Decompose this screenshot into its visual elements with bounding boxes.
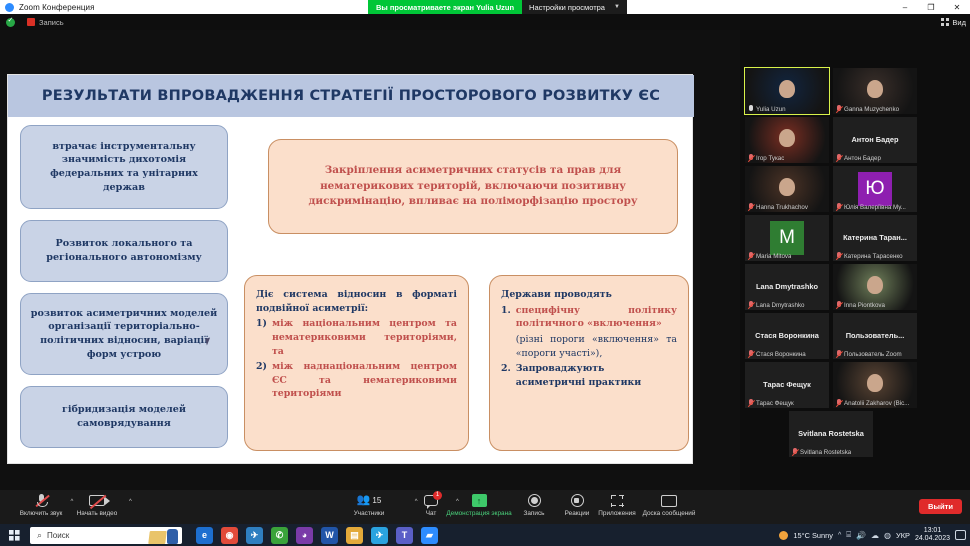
left-box-1: втрачає інструментальну значимість дихот… [20, 125, 228, 209]
participant-tile-name: Катерина Таран... [840, 234, 910, 243]
list-item: 1. специфічну політику політичного «вклю… [501, 304, 677, 331]
participant-name: Inna Piontkova [844, 302, 885, 309]
list-item-number: 2. [501, 362, 511, 389]
list-item-subtext: (різні пороги «включення» та «пороги уча… [516, 333, 677, 360]
microphone-muted-icon [836, 203, 842, 211]
top-highlight-text: Закріплення асиметричних статусів та пра… [289, 163, 657, 210]
microphone-muted-icon [836, 399, 842, 407]
weather-icon [779, 531, 788, 540]
participant-tile[interactable]: Inna Piontkova [833, 264, 917, 310]
list-item-text: між наднаціональним центром ЄС та немате… [272, 360, 457, 401]
left-boxes-column: втрачає інструментальну значимість дихот… [20, 125, 228, 448]
microphone-muted-icon [836, 252, 842, 260]
clock-time: 13:01 [924, 527, 942, 535]
microphone-muted-icon [836, 301, 842, 309]
taskbar-icon-telegram[interactable]: ✈ [371, 527, 388, 544]
participant-tile-name: Антон Бадер [848, 136, 901, 145]
participant-tile-footer: Hanna Trukhachov [745, 203, 829, 211]
system-tray: 15°C Sunny ^ ⌸ 🔊 ☁ ◍ УКР 13:01 24.04.202… [779, 524, 966, 546]
participant-tile-footer: Anatolii Zakharov (Віс... [833, 399, 917, 407]
windows-logo-icon [9, 530, 20, 541]
list-item-number: 1) [256, 317, 267, 358]
recording-bar: Запись Вид [0, 14, 970, 30]
cloud-icon[interactable]: ☁ [871, 531, 879, 540]
search-placeholder: Поиск [47, 531, 69, 540]
participant-tile[interactable]: ЮЮлія Валеріївна Му... [833, 166, 917, 212]
participant-tile-footer: Inna Piontkova [833, 301, 917, 309]
taskbar-icon-chrome[interactable]: ◉ [221, 527, 238, 544]
bottom-left-list: 1) між національним центром та нематерик… [256, 317, 457, 401]
notifications-icon[interactable] [955, 530, 966, 540]
network-icon[interactable]: ⌸ [846, 530, 851, 540]
view-options-label: Настройки просмотра [529, 3, 605, 12]
bottom-left-heading: Діє система відносин в форматі подвійної… [256, 288, 457, 315]
recording-label: Запись [39, 18, 64, 27]
participant-tile-footer: Тарас Фещук [745, 399, 829, 407]
microphone-muted-icon: ^ [35, 493, 48, 508]
unmute-label: Включить звук [20, 510, 63, 517]
grid-view-icon [941, 18, 949, 26]
zoom-logo-icon [5, 3, 14, 12]
participant-tile[interactable]: Svitlana RostetskaSvitlana Rostetska [789, 411, 873, 457]
taskbar-icon-word[interactable]: W [321, 527, 338, 544]
bottom-left-box: Діє система відносин в форматі подвійної… [244, 275, 469, 451]
recording-indicator-icon[interactable] [27, 18, 35, 26]
window-title: Zoom Конференция [19, 3, 95, 12]
camera-muted-icon: ^ [89, 493, 105, 508]
microphone-icon [748, 105, 754, 113]
participant-tile[interactable]: Yulia Uzun [745, 68, 829, 114]
participant-tile[interactable]: Пользователь...Пользователь Zoom [833, 313, 917, 359]
list-item-spacer [501, 333, 511, 360]
window-controls: – ❐ ✕ [892, 0, 970, 14]
zoom-title-bar: Zoom Конференция Вы просматриваете экран… [0, 0, 970, 14]
participant-tile-footer: Стася Воронкина [745, 350, 829, 358]
people-glyph-icon: 👥 [357, 495, 371, 506]
left-box-4: гібридизація моделей самоврядування [20, 386, 228, 448]
list-item-sub: (різні пороги «включення» та «пороги уча… [501, 333, 677, 360]
search-illustration [149, 529, 178, 544]
participant-tile[interactable]: Стася ВоронкинаСтася Воронкина [745, 313, 829, 359]
taskbar-icon-telegram-desktop[interactable]: ✈ [246, 527, 263, 544]
microphone-muted-icon [836, 105, 842, 113]
participant-name: Антон Бадер [844, 155, 881, 162]
participant-tile[interactable]: МMaria Mitova [745, 215, 829, 261]
list-item: 2) між наднаціональним центром ЄС та нем… [256, 360, 457, 401]
whiteboard-button[interactable]: Доска сообщений [630, 493, 708, 523]
list-item-number: 1. [501, 304, 511, 331]
weather-label[interactable]: 15°C Sunny [793, 531, 833, 540]
participant-tile[interactable]: Тарас ФещукТарас Фещук [745, 362, 829, 408]
participant-panel: Yulia UzunGanna MuzychenkoІгор ТукасАнто… [740, 30, 970, 490]
participant-tile-footer: Пользователь Zoom [833, 350, 917, 358]
start-button[interactable] [0, 530, 28, 541]
close-button[interactable]: ✕ [944, 0, 970, 14]
taskbar-icon-teams[interactable]: T [396, 527, 413, 544]
clock[interactable]: 13:01 24.04.2023 [915, 527, 950, 542]
participant-name: Yulia Uzun [756, 106, 786, 113]
microphone-muted-icon [748, 350, 754, 358]
participant-name: Svitlana Rostetska [800, 449, 851, 456]
bottom-right-box: Держави проводять 1. специфічну політику… [489, 275, 689, 451]
view-layout-button[interactable]: Вид [941, 14, 966, 30]
participants-icon: 👥 15 ^ [357, 493, 382, 508]
participant-tiles: Yulia UzunGanna MuzychenkoІгор ТукасАнто… [745, 68, 967, 457]
shared-screen-stage: РЕЗУЛЬТАТИ ВПРОВАДЖЕННЯ СТРАТЕГІЇ ПРОСТО… [0, 30, 740, 490]
participant-tile-footer: Антон Бадер [833, 154, 917, 162]
left-box-2: Розвиток локального та регіонального авт… [20, 220, 228, 282]
taskbar-app-icons: e◉✈✆◕W▤✈T▰ [196, 527, 438, 544]
participant-tile[interactable]: Hanna Trukhachov [745, 166, 829, 212]
participant-name: Hanna Trukhachov [756, 204, 808, 211]
chevron-up-icon[interactable]: ^ [838, 532, 841, 539]
participant-tile-footer: Катерина Тарасенко [833, 252, 917, 260]
participant-tile[interactable]: Антон БадерАнтон Бадер [833, 117, 917, 163]
participant-name: Ganna Muzychenko [844, 106, 899, 113]
minimize-button[interactable]: – [892, 0, 918, 14]
zoom-toolbar: ^ Включить звук ^ Начать видео 👥 15 ^ Уч… [0, 490, 970, 524]
chevron-up-icon[interactable]: ^ [129, 499, 132, 505]
participants-label: Участники [354, 510, 385, 517]
participant-tile[interactable]: Ganna Muzychenko [833, 68, 917, 114]
participant-tile-name: Lana Dmytrashko [753, 283, 821, 292]
taskbar-icon-viber[interactable]: ◕ [296, 527, 313, 544]
participant-tile-footer: Ganna Muzychenko [833, 105, 917, 113]
avatar: М [770, 221, 804, 255]
microphone-muted-icon [836, 350, 842, 358]
microphone-muted-icon [748, 301, 754, 309]
participant-tile-footer: Юлія Валеріївна Му... [833, 203, 917, 211]
maximize-button[interactable]: ❐ [918, 0, 944, 14]
participant-name: Стася Воронкина [756, 351, 806, 358]
encryption-shield-icon[interactable] [6, 18, 15, 27]
search-icon: ⌕ [37, 530, 42, 541]
view-options-button[interactable]: Настройки просмотра ▼ [522, 0, 627, 14]
microphone-muted-icon [748, 399, 754, 407]
microphone-muted-icon [748, 203, 754, 211]
view-label: Вид [952, 18, 966, 27]
volume-icon[interactable]: 🔊 [856, 531, 866, 540]
share-screen-icon: ↑ [472, 493, 487, 508]
left-box-3: розвиток асиметричних моделей організаці… [20, 293, 228, 375]
chevron-down-icon: ▼ [614, 4, 620, 10]
slide-title: РЕЗУЛЬТАТИ ВПРОВАДЖЕННЯ СТРАТЕГІЇ ПРОСТО… [42, 88, 660, 104]
list-item-number: 2) [256, 360, 267, 401]
participant-tile-footer: Maria Mitova [745, 252, 829, 260]
participant-name: Катерина Тарасенко [844, 253, 903, 260]
participant-tile[interactable]: Ігор Тукас [745, 117, 829, 163]
participant-tile[interactable]: Катерина Таран...Катерина Тарасенко [833, 215, 917, 261]
taskbar-icon-file-explorer[interactable]: ▤ [346, 527, 363, 544]
leave-meeting-button[interactable]: Выйти [919, 499, 962, 514]
participant-tile-name: Стася Воронкина [752, 332, 822, 341]
sharing-indicator-group: Вы просматриваете экран Yulia Uzun Настр… [368, 0, 627, 14]
participant-tile-footer: Yulia Uzun [745, 105, 829, 113]
screen: Zoom Конференция Вы просматриваете экран… [0, 0, 970, 546]
apps-icon [611, 493, 624, 508]
search-input[interactable]: ⌕ Поиск [30, 527, 182, 544]
participant-tile[interactable]: Lana DmytrashkoLana Dmytrashko [745, 264, 829, 310]
clock-date: 24.04.2023 [915, 535, 950, 543]
microphone-muted-icon [748, 154, 754, 162]
participant-tile-name: Пользователь... [843, 332, 908, 341]
chat-label: Чат [426, 510, 437, 517]
microphone-muted-icon [792, 448, 798, 456]
start-video-label: Начать видео [77, 510, 118, 517]
bottom-right-heading: Держави проводять [501, 288, 677, 302]
participant-tile-footer: Svitlana Rostetska [789, 448, 873, 456]
slide-title-band: РЕЗУЛЬТАТИ ВПРОВАДЖЕННЯ СТРАТЕГІЇ ПРОСТО… [8, 75, 694, 117]
participant-name: Тарас Фещук [756, 400, 794, 407]
sharing-banner: Вы просматриваете экран Yulia Uzun [368, 0, 522, 14]
avatar: Ю [858, 172, 892, 206]
language-indicator[interactable]: УКР [896, 531, 910, 540]
participant-tile-footer: Ігор Тукас [745, 154, 829, 162]
list-item: 1) між національним центром та нематерик… [256, 317, 457, 358]
taskbar-icon-zoom[interactable]: ▰ [421, 527, 438, 544]
participant-name: Юлія Валеріївна Му... [844, 204, 906, 211]
start-video-button[interactable]: ^ Начать видео [58, 493, 136, 523]
participant-tile-footer: Lana Dmytrashko [745, 301, 829, 309]
list-item-text: Запроваджують асиметричні практики [516, 362, 677, 389]
antivirus-icon[interactable]: ◍ [884, 531, 891, 540]
chat-icon: 1 ^ [424, 493, 438, 508]
presentation-slide: РЕЗУЛЬТАТИ ВПРОВАДЖЕННЯ СТРАТЕГІЇ ПРОСТО… [7, 74, 693, 464]
participant-name: Maria Mitova [756, 253, 791, 260]
list-item: 2. Запроваджують асиметричні практики [501, 362, 677, 389]
participant-name: Anatolii Zakharov (Віс... [844, 400, 909, 407]
participant-tile[interactable]: Anatolii Zakharov (Віс... [833, 362, 917, 408]
whiteboard-label: Доска сообщений [643, 510, 696, 517]
participant-tile-name: Svitlana Rostetska [795, 430, 867, 439]
microphone-muted-icon [836, 154, 842, 162]
microphone-muted-icon [748, 252, 754, 260]
list-item-text: між національним центром та нематерикови… [272, 317, 457, 358]
bottom-right-list: 1. специфічну політику політичного «вклю… [501, 304, 677, 390]
participant-tile-name: Тарас Фещук [760, 381, 814, 390]
taskbar-icon-wechat[interactable]: ✆ [271, 527, 288, 544]
participants-count: 15 [372, 496, 381, 505]
participant-name: Lana Dmytrashko [756, 302, 805, 309]
list-item-text: специфічну політику політичного «включен… [516, 304, 677, 331]
participant-name: Пользователь Zoom [844, 351, 902, 358]
taskbar-icon-edge[interactable]: e [196, 527, 213, 544]
windows-taskbar: ⌕ Поиск e◉✈✆◕W▤✈T▰ 15°C Sunny ^ ⌸ 🔊 ☁ ◍ … [0, 524, 970, 546]
participant-name: Ігор Тукас [756, 155, 784, 162]
whiteboard-icon [661, 493, 677, 508]
top-highlight-box: Закріплення асиметричних статусів та пра… [268, 139, 678, 234]
